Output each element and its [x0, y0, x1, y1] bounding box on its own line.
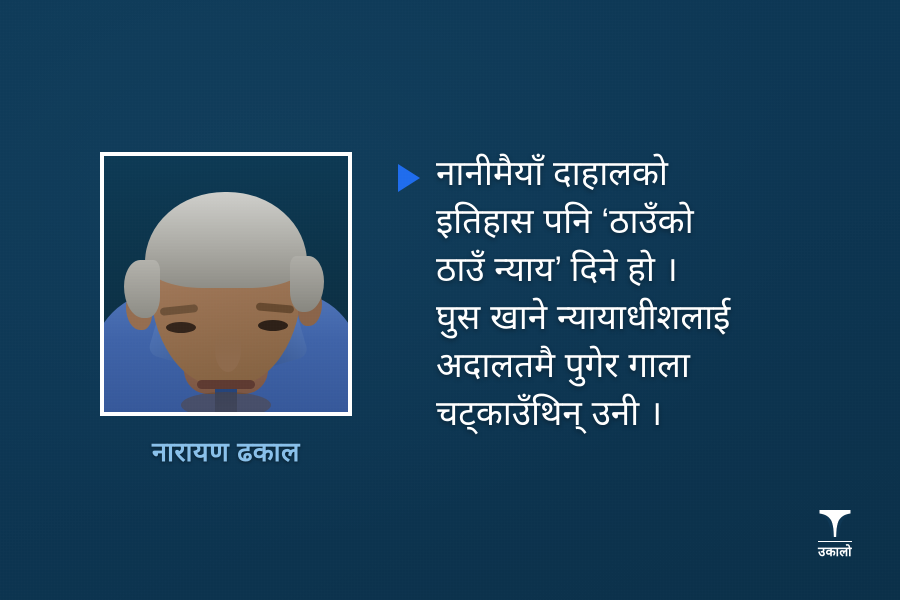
quote-line: ठाउँ न्याय’ दिने हो ।: [436, 246, 860, 294]
quote-line: चट्काउँथिन् उनी ।: [436, 390, 860, 438]
mouth: [197, 380, 255, 389]
quote-line: घुस खाने न्यायाधीशलाई: [436, 294, 860, 342]
portrait-photo: [104, 156, 348, 412]
nose: [215, 328, 241, 372]
chin-shadow: [181, 392, 271, 412]
portrait-frame: [100, 152, 352, 416]
quote-line: इतिहास पनि ‘ठाउँको: [436, 198, 860, 246]
hair-side-left: [124, 260, 160, 318]
eye-left: [166, 322, 196, 333]
brand-wordmark: उकालो: [818, 541, 852, 558]
quote-line: अदालतमै पुगेर गाला: [436, 342, 860, 390]
eye-right: [258, 320, 288, 331]
uphill-road-logo-icon: [818, 508, 852, 538]
brand-logo: उकालो: [818, 508, 852, 558]
quote-card: नारायण ढकाल नानीमैयाँ दाहालको इतिहास पनि…: [0, 0, 900, 600]
play-triangle-icon: [398, 164, 420, 192]
quote-line: नानीमैयाँ दाहालको: [436, 150, 860, 198]
quote-text: नानीमैयाँ दाहालको इतिहास पनि ‘ठाउँको ठाउ…: [436, 150, 860, 438]
speaker-name: नारायण ढकाल: [100, 432, 352, 469]
quote-block: नानीमैयाँ दाहालको इतिहास पनि ‘ठाउँको ठाउ…: [398, 150, 860, 438]
